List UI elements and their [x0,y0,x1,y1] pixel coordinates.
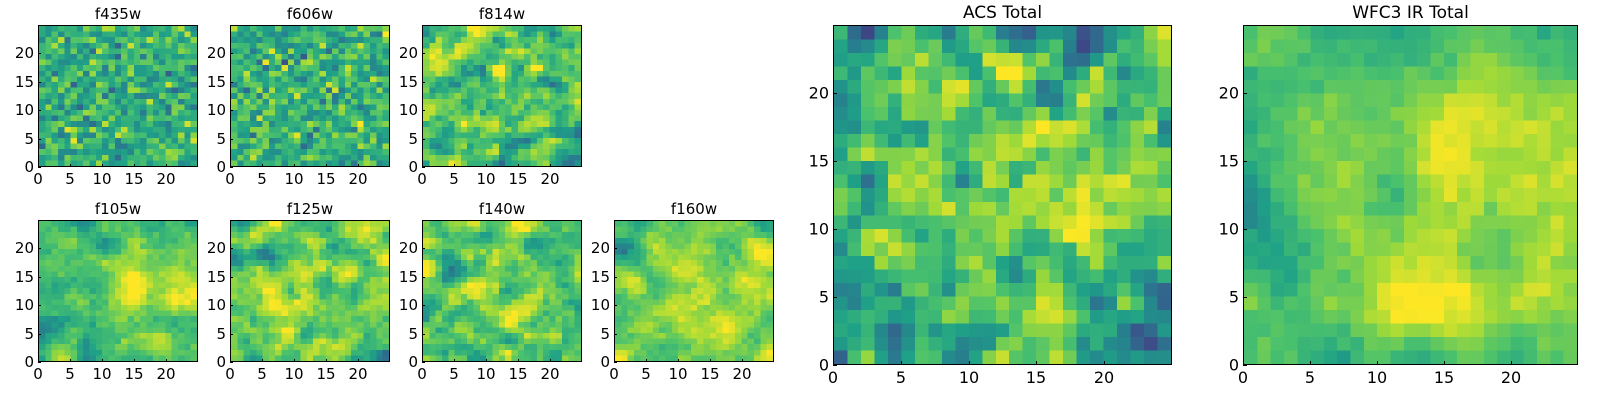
panel-title-f814w: f814w [422,5,582,23]
y-tick-f814w-1 [422,139,425,140]
y-tick-wfc3_ir_total-2 [1243,229,1247,230]
y-tick-wfc3_ir_total-1 [1243,297,1247,298]
y-tick-label-wfc3_ir_total-2: 10 [1197,220,1239,239]
heatmap-axes-acs_total [833,25,1172,365]
heatmap-image-f435w [39,26,197,166]
y-tick-f435w-0 [38,167,41,168]
x-tick-label-f435w-1: 5 [65,170,75,188]
y-tick-wfc3_ir_total-0 [1243,365,1247,366]
y-tick-f435w-2 [38,110,41,111]
y-tick-label-f105w-1: 5 [0,325,34,343]
heatmap-image-acs_total [834,26,1171,364]
x-tick-f140w-4 [550,359,551,362]
y-tick-f606w-4 [230,53,233,54]
x-tick-f435w-3 [134,164,135,167]
x-tick-label-f160w-3: 15 [700,365,719,383]
y-tick-acs_total-3 [833,161,837,162]
x-tick-f105w-1 [70,359,71,362]
x-tick-wfc3_ir_total-3 [1444,361,1445,365]
x-tick-wfc3_ir_total-4 [1511,361,1512,365]
y-tick-label-f606w-4: 20 [184,44,226,62]
x-tick-f814w-3 [518,164,519,167]
y-tick-label-f125w-0: 0 [184,353,226,371]
panel-title-wfc3_ir_total: WFC3 IR Total [1243,3,1578,23]
x-tick-f435w-2 [102,164,103,167]
x-tick-label-acs_total-0: 0 [828,368,838,387]
x-tick-label-f140w-4: 20 [540,365,559,383]
x-tick-f105w-2 [102,359,103,362]
y-tick-label-f105w-3: 15 [0,268,34,286]
x-tick-f140w-2 [486,359,487,362]
panel-title-f125w: f125w [230,200,390,218]
y-tick-f606w-2 [230,110,233,111]
x-tick-label-f814w-0: 0 [417,170,427,188]
y-tick-f105w-3 [38,277,41,278]
y-tick-f435w-4 [38,53,41,54]
y-tick-f435w-1 [38,139,41,140]
heatmap-image-f125w [231,221,389,361]
y-tick-f435w-3 [38,82,41,83]
heatmap-image-f140w [423,221,581,361]
x-tick-acs_total-4 [1104,361,1105,365]
x-tick-label-acs_total-4: 20 [1094,368,1114,387]
x-tick-label-f606w-2: 10 [284,170,303,188]
x-tick-label-f160w-0: 0 [609,365,619,383]
y-tick-label-wfc3_ir_total-1: 5 [1197,288,1239,307]
x-tick-label-wfc3_ir_total-4: 20 [1501,368,1521,387]
x-tick-label-f105w-3: 15 [124,365,143,383]
x-tick-label-f435w-4: 20 [156,170,175,188]
x-tick-f125w-4 [358,359,359,362]
y-tick-f814w-0 [422,167,425,168]
y-tick-f160w-0 [614,362,617,363]
x-tick-f160w-4 [742,359,743,362]
x-tick-f160w-1 [646,359,647,362]
y-tick-acs_total-4 [833,93,837,94]
x-tick-label-f160w-2: 10 [668,365,687,383]
y-tick-f125w-3 [230,277,233,278]
y-tick-f606w-0 [230,167,233,168]
x-tick-f814w-4 [550,164,551,167]
y-tick-label-f105w-4: 20 [0,239,34,257]
heatmap-axes-f606w [230,25,390,167]
x-tick-label-wfc3_ir_total-3: 15 [1434,368,1454,387]
y-tick-label-f105w-2: 10 [0,296,34,314]
y-tick-label-f125w-2: 10 [184,296,226,314]
y-tick-label-wfc3_ir_total-3: 15 [1197,152,1239,171]
x-tick-label-f160w-4: 20 [732,365,751,383]
heatmap-axes-wfc3_ir_total [1243,25,1578,365]
x-tick-label-f606w-1: 5 [257,170,267,188]
y-tick-label-acs_total-3: 15 [787,152,829,171]
x-tick-f160w-2 [678,359,679,362]
heatmap-axes-f105w [38,220,198,362]
panel-title-f435w: f435w [38,5,198,23]
y-tick-label-f435w-2: 10 [0,101,34,119]
panel-title-f105w: f105w [38,200,198,218]
x-tick-label-f140w-0: 0 [417,365,427,383]
y-tick-label-f814w-4: 20 [376,44,418,62]
x-tick-label-wfc3_ir_total-2: 10 [1367,368,1387,387]
x-tick-label-f435w-2: 10 [92,170,111,188]
x-tick-f125w-3 [326,359,327,362]
y-tick-label-f606w-1: 5 [184,130,226,148]
y-tick-f814w-3 [422,82,425,83]
y-tick-label-f140w-3: 15 [376,268,418,286]
y-tick-f105w-0 [38,362,41,363]
y-tick-f140w-4 [422,248,425,249]
x-tick-f435w-1 [70,164,71,167]
y-tick-label-f140w-2: 10 [376,296,418,314]
x-tick-label-f125w-4: 20 [348,365,367,383]
y-tick-f105w-4 [38,248,41,249]
x-tick-f140w-1 [454,359,455,362]
x-tick-f606w-1 [262,164,263,167]
y-tick-label-f814w-2: 10 [376,101,418,119]
y-tick-label-f160w-4: 20 [568,239,610,257]
y-tick-f814w-4 [422,53,425,54]
x-tick-f814w-1 [454,164,455,167]
x-tick-label-f814w-4: 20 [540,170,559,188]
y-tick-label-f606w-2: 10 [184,101,226,119]
x-tick-f606w-3 [326,164,327,167]
y-tick-f140w-1 [422,334,425,335]
x-tick-acs_total-3 [1036,361,1037,365]
heatmap-axes-f125w [230,220,390,362]
x-tick-f125w-1 [262,359,263,362]
y-tick-label-f160w-2: 10 [568,296,610,314]
y-tick-f140w-0 [422,362,425,363]
heatmap-axes-f160w [614,220,774,362]
heatmap-axes-f140w [422,220,582,362]
figure-canvas: f435w0510152005101520f606w05101520051015… [0,0,1600,400]
y-tick-wfc3_ir_total-3 [1243,161,1247,162]
x-tick-f140w-3 [518,359,519,362]
y-tick-f606w-3 [230,82,233,83]
heatmap-image-f606w [231,26,389,166]
x-tick-label-f105w-1: 5 [65,365,75,383]
y-tick-label-f435w-1: 5 [0,130,34,148]
y-tick-label-f435w-0: 0 [0,158,34,176]
x-tick-label-wfc3_ir_total-0: 0 [1238,368,1248,387]
y-tick-label-f435w-4: 20 [0,44,34,62]
x-tick-label-f140w-2: 10 [476,365,495,383]
heatmap-image-f160w [615,221,773,361]
y-tick-f140w-2 [422,305,425,306]
heatmap-image-f814w [423,26,581,166]
y-tick-f125w-2 [230,305,233,306]
y-tick-label-f140w-0: 0 [376,353,418,371]
x-tick-label-wfc3_ir_total-1: 5 [1305,368,1315,387]
x-tick-label-f814w-3: 15 [508,170,527,188]
y-tick-label-acs_total-0: 0 [787,356,829,375]
y-tick-label-f160w-0: 0 [568,353,610,371]
x-tick-f814w-2 [486,164,487,167]
heatmap-image-f105w [39,221,197,361]
y-tick-label-f125w-4: 20 [184,239,226,257]
x-tick-label-f435w-3: 15 [124,170,143,188]
y-tick-f125w-1 [230,334,233,335]
x-tick-label-f606w-3: 15 [316,170,335,188]
y-tick-label-f140w-1: 5 [376,325,418,343]
y-tick-label-f105w-0: 0 [0,353,34,371]
y-tick-label-f606w-3: 15 [184,73,226,91]
y-tick-label-f814w-0: 0 [376,158,418,176]
heatmap-axes-f814w [422,25,582,167]
x-tick-f606w-4 [358,164,359,167]
y-tick-label-f125w-1: 5 [184,325,226,343]
y-tick-f125w-0 [230,362,233,363]
x-tick-label-f606w-0: 0 [225,170,235,188]
x-tick-f606w-2 [294,164,295,167]
x-tick-label-f125w-1: 5 [257,365,267,383]
panel-title-f140w: f140w [422,200,582,218]
x-tick-label-f140w-3: 15 [508,365,527,383]
x-tick-label-f814w-1: 5 [449,170,459,188]
panel-title-f160w: f160w [614,200,774,218]
x-tick-label-f125w-3: 15 [316,365,335,383]
y-tick-f160w-1 [614,334,617,335]
y-tick-label-f140w-4: 20 [376,239,418,257]
y-tick-f814w-2 [422,110,425,111]
x-tick-f160w-3 [710,359,711,362]
x-tick-wfc3_ir_total-1 [1310,361,1311,365]
x-tick-label-acs_total-2: 10 [959,368,979,387]
y-tick-label-f125w-3: 15 [184,268,226,286]
x-tick-label-f105w-0: 0 [33,365,43,383]
y-tick-acs_total-2 [833,229,837,230]
y-tick-label-f606w-0: 0 [184,158,226,176]
x-tick-f105w-4 [166,359,167,362]
x-tick-label-f606w-4: 20 [348,170,367,188]
x-tick-label-f125w-2: 10 [284,365,303,383]
heatmap-image-wfc3_ir_total [1244,26,1577,364]
y-tick-label-f814w-3: 15 [376,73,418,91]
y-tick-wfc3_ir_total-4 [1243,93,1247,94]
y-tick-f125w-4 [230,248,233,249]
y-tick-label-wfc3_ir_total-4: 20 [1197,84,1239,103]
x-tick-label-f814w-2: 10 [476,170,495,188]
y-tick-label-f814w-1: 5 [376,130,418,148]
x-tick-label-f125w-0: 0 [225,365,235,383]
x-tick-label-f160w-1: 5 [641,365,651,383]
x-tick-acs_total-1 [901,361,902,365]
y-tick-f105w-2 [38,305,41,306]
y-tick-label-acs_total-4: 20 [787,84,829,103]
y-tick-label-acs_total-2: 10 [787,220,829,239]
y-tick-label-wfc3_ir_total-0: 0 [1197,356,1239,375]
x-tick-f125w-2 [294,359,295,362]
x-tick-acs_total-2 [969,361,970,365]
y-tick-f160w-3 [614,277,617,278]
x-tick-label-f435w-0: 0 [33,170,43,188]
y-tick-acs_total-0 [833,365,837,366]
panel-title-acs_total: ACS Total [833,3,1172,23]
y-tick-f160w-2 [614,305,617,306]
heatmap-axes-f435w [38,25,198,167]
x-tick-label-f105w-2: 10 [92,365,111,383]
y-tick-label-f435w-3: 15 [0,73,34,91]
x-tick-label-f140w-1: 5 [449,365,459,383]
x-tick-f105w-3 [134,359,135,362]
x-tick-f435w-4 [166,164,167,167]
y-tick-label-f160w-3: 15 [568,268,610,286]
x-tick-label-acs_total-1: 5 [896,368,906,387]
y-tick-label-f160w-1: 5 [568,325,610,343]
x-tick-wfc3_ir_total-2 [1377,361,1378,365]
x-tick-label-f105w-4: 20 [156,365,175,383]
y-tick-acs_total-1 [833,297,837,298]
y-tick-label-acs_total-1: 5 [787,288,829,307]
y-tick-f140w-3 [422,277,425,278]
panel-title-f606w: f606w [230,5,390,23]
y-tick-f105w-1 [38,334,41,335]
y-tick-f606w-1 [230,139,233,140]
x-tick-label-acs_total-3: 15 [1026,368,1046,387]
y-tick-f160w-4 [614,248,617,249]
